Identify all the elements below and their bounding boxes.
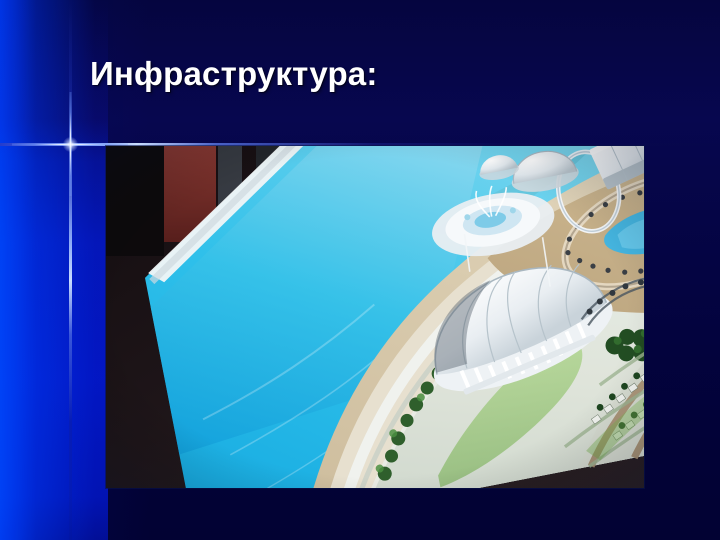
architectural-model-photo xyxy=(106,146,644,488)
presentation-slide: Инфраструктура: xyxy=(0,0,720,540)
vertical-glow-rule xyxy=(69,0,72,540)
slide-title: Инфраструктура: xyxy=(90,55,690,93)
model-photo-illustration xyxy=(106,146,644,488)
star-sparkle-icon xyxy=(70,144,71,145)
sparkle-vertical-ray xyxy=(69,92,72,196)
left-accent-band-inner xyxy=(0,0,36,540)
sparkle-core xyxy=(63,137,78,152)
